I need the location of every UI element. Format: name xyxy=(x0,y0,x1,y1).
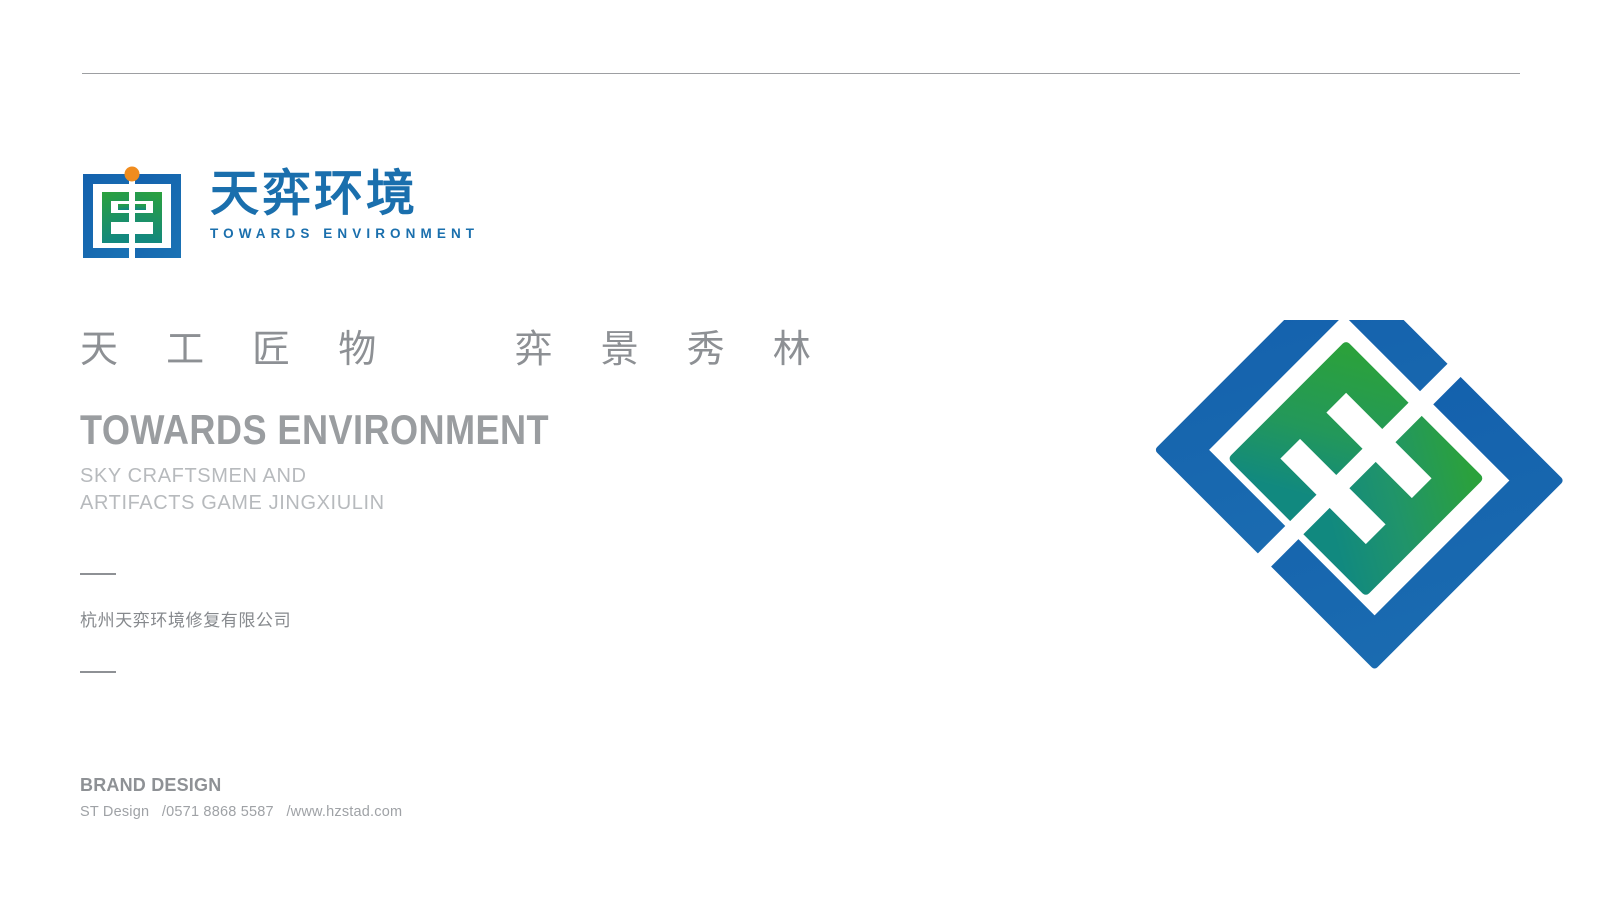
brand-cover-page: 天弈环境 TOWARDS ENVIRONMENT 天 工 匠 物 弈 景 秀 林… xyxy=(0,0,1600,900)
logo-english-name: TOWARDS ENVIRONMENT xyxy=(210,226,479,241)
english-subline: SKY CRAFTSMEN AND ARTIFACTS GAME JINGXIU… xyxy=(80,463,385,517)
logo-wordmark: 天弈环境 TOWARDS ENVIRONMENT xyxy=(210,166,479,241)
towards-environment-logo-mark-icon xyxy=(80,166,184,266)
corner-logo-graphic xyxy=(1010,320,1600,900)
footer-title: BRAND DESIGN xyxy=(80,775,402,796)
footer-block: BRAND DESIGN ST Design /0571 8868 5587 /… xyxy=(80,775,402,820)
footer-contact-line: ST Design /0571 8868 5587 /www.hzstad.co… xyxy=(80,804,402,820)
divider-dash-below-company xyxy=(80,671,116,673)
company-name: 杭州天弈环境修复有限公司 xyxy=(80,606,291,631)
brand-logo-lockup: 天弈环境 TOWARDS ENVIRONMENT xyxy=(80,166,479,266)
english-headline: TOWARDS ENVIRONMENT xyxy=(80,406,549,454)
top-divider-rule xyxy=(82,73,1520,74)
logo-chinese-name: 天弈环境 xyxy=(210,168,479,221)
orange-dot xyxy=(125,167,140,182)
chinese-slogan: 天 工 匠 物 弈 景 秀 林 xyxy=(80,326,829,374)
divider-dash-above-company xyxy=(80,573,116,575)
